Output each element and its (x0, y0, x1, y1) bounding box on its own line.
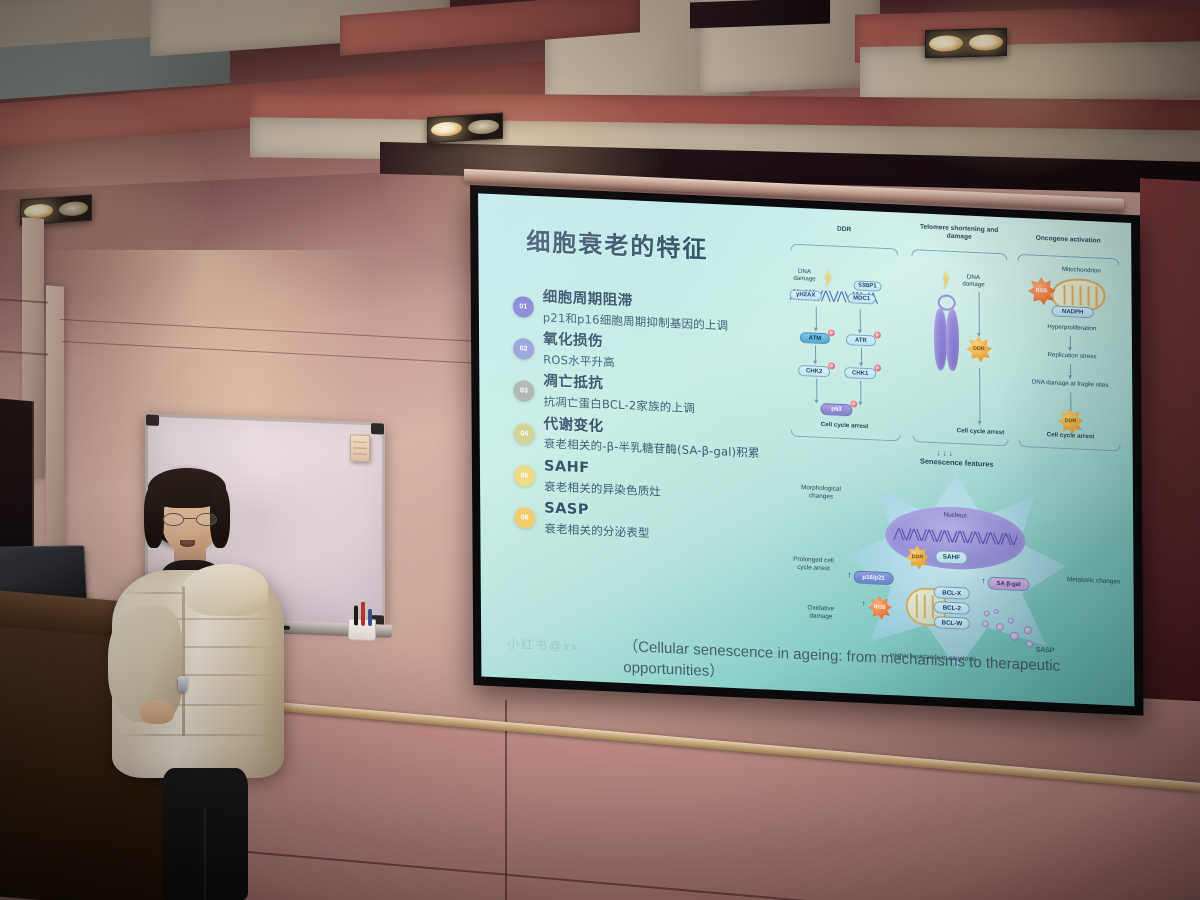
label-morphological-changes: Morphological changes (793, 484, 849, 503)
sasp-dot (982, 620, 989, 627)
arrow-up-ros: ↑ (860, 599, 868, 609)
node-replication-stress: Replication stress (1022, 350, 1122, 362)
marker-bcl-w: BCL-W (934, 616, 970, 630)
presenter-hand (140, 700, 174, 724)
slide-watermark: 小红书@xx (507, 635, 579, 655)
arrow-onco-2 (1070, 364, 1071, 376)
pen-red[interactable] (361, 602, 365, 626)
phospho-dot: P (828, 362, 835, 369)
presenter-hair-side (144, 486, 164, 548)
bullet-number-badge: 02 (513, 338, 534, 360)
bullet-number-badge: 06 (514, 507, 535, 529)
ros-starburst-icon: ROS (1027, 276, 1055, 305)
spotlight-bulb (59, 200, 88, 217)
node-dna-damage-1: DNA damage (787, 267, 821, 283)
glasses-lens-left (163, 513, 184, 526)
arrow-to-p53 (816, 379, 817, 401)
slide-figure: DDR DNA damage ⋀⋁⋀⋁⋀⋁⋀⋁⋀⋁⋀ γH2AX 53BP1 M… (785, 215, 1128, 691)
sasp-dot (1008, 617, 1014, 623)
brace-top-oncogene (1018, 254, 1119, 266)
ceiling-panel-e (860, 41, 1200, 103)
spotlight-bulb (431, 121, 462, 138)
node-chk1: CHK1 (844, 367, 876, 379)
arrow-to-ddr-telomere (979, 292, 980, 334)
label-metabolic-changes: Metabolic changes (1066, 576, 1122, 587)
ros-label: ROS (1036, 288, 1048, 295)
ddr-label: DDR (912, 554, 924, 561)
arrow-to-atr (860, 309, 861, 331)
spotlight-bulb (468, 118, 499, 135)
spotlight-bulb (929, 35, 963, 52)
label-mitochondrion: Mitochondrion (1041, 265, 1121, 276)
arrow-onco-1 (1070, 336, 1071, 348)
node-chk2: CHK2 (798, 365, 830, 377)
marker-bcl-x: BCL-X (934, 586, 970, 600)
node-atm: ATM (800, 332, 830, 344)
whiteboard-corner (371, 423, 384, 434)
node-hyperproliferation: Hyperproliferation (1022, 322, 1122, 334)
outcome-cell-cycle-arrest-3: Cell cycle arrest (1029, 430, 1113, 441)
node-gammah2ax: γH2AX (790, 290, 822, 301)
trouser-seam (204, 808, 206, 900)
figure-column-ddr: DDR DNA damage ⋀⋁⋀⋁⋀⋁⋀⋁⋀⋁⋀ γH2AX 53BP1 M… (785, 243, 904, 444)
presenter-mouth (180, 540, 195, 547)
whiteboard-eraser[interactable] (350, 434, 370, 462)
sasp-dot (1024, 626, 1032, 634)
senescence-features-label: Senescence features (897, 456, 1017, 470)
figure-column-telomere: Telomere shortening and damage DNA damag… (907, 249, 1012, 450)
glasses-bridge (184, 518, 196, 519)
jacket-quilt-line (118, 734, 278, 736)
ros-label: ROS (874, 604, 886, 611)
arrow-to-chk1 (861, 348, 862, 364)
column-header-ddr: DDR (785, 223, 903, 236)
projection-screen: 细胞衰老的特征 小红书@xx 01 细胞周期阻滞 p21和p16细胞周期抑制基因… (470, 185, 1143, 716)
arrow-up-sabgal: ↑ (980, 576, 988, 586)
ddr-label: DDR (973, 346, 985, 353)
ceiling-spotlight-3 (925, 28, 1007, 58)
slide-surface: 细胞衰老的特征 小红书@xx 01 细胞周期阻滞 p21和p16细胞周期抑制基因… (478, 193, 1134, 706)
sasp-secretion-dots (982, 608, 1042, 651)
node-mdc1: MDC1 (848, 293, 876, 304)
arrow-up-p16: ↑ (846, 570, 854, 580)
chromosome-arm (946, 309, 959, 372)
presenter-glasses (163, 513, 217, 526)
arrow-to-p53-b (860, 381, 861, 403)
presenter-trousers (162, 768, 248, 900)
sasp-dot (994, 609, 999, 614)
bullet-number-badge: 01 (513, 296, 534, 318)
pen-holder[interactable] (348, 618, 376, 641)
phospho-dot: P (874, 331, 881, 338)
slide-title: 细胞衰老的特征 (526, 222, 708, 265)
column-header-telomere: Telomere shortening and damage (907, 223, 1011, 243)
outcome-cell-cycle-arrest-1: Cell cycle arrest (805, 420, 885, 431)
screen-frame: 细胞衰老的特征 小红书@xx 01 细胞周期阻滞 p21和p16细胞周期抑制基因… (470, 185, 1143, 716)
label-oxidative-damage: Oxidative damage (796, 604, 846, 622)
node-dna-damage-fragile: DNA damage at fragile sites (1014, 378, 1126, 391)
glasses-lens-right (196, 513, 217, 526)
ddr-starburst-icon: DDR (966, 336, 992, 363)
node-nadph: NADPH (1052, 305, 1094, 318)
node-atr: ATR (846, 334, 876, 346)
arrow-to-atm (816, 307, 817, 329)
node-dna-damage-2: DNA damage (955, 273, 991, 290)
arrow-to-arrest-telomere (979, 368, 980, 422)
phospho-dot: P (850, 400, 857, 407)
chromatin-strands-icon: ⋀⋁⋀⋁⋀⋁⋀⋁⋀⋁⋀⋁⋀⋁⋀⋁ (893, 526, 1017, 548)
marker-p16-p21: p16/p21 (854, 570, 894, 585)
bullet-number-badge: 05 (514, 465, 535, 487)
jacket-zipper (182, 586, 185, 736)
phospho-dot: P (828, 329, 835, 336)
pen-blue[interactable] (368, 609, 372, 626)
bullet-number-badge: 04 (514, 423, 535, 445)
figure-top-pathways: DDR DNA damage ⋀⋁⋀⋁⋀⋁⋀⋁⋀⋁⋀ γH2AX 53BP1 M… (785, 221, 1125, 454)
marker-sa-beta-gal: SA β-gal (988, 577, 1030, 592)
presenter (110, 468, 285, 900)
brace-top-ddr (790, 244, 899, 256)
ceiling-spotlight-2 (427, 113, 503, 144)
node-p53: p53 (820, 403, 852, 416)
arrow-onco-3 (1070, 392, 1071, 410)
node-53bp1: 53BP1 (854, 280, 882, 291)
jacket-zipper-pull (178, 676, 187, 692)
pen-black[interactable] (354, 605, 358, 625)
ddr-starburst-icon: DDR (1057, 408, 1083, 435)
figure-column-oncogene: Oncogene activation Mitochondrion ROS NA… (1013, 254, 1124, 455)
sasp-dot (996, 623, 1004, 631)
ddr-label: DDR (1065, 418, 1077, 425)
bullet-number-badge: 03 (513, 380, 534, 402)
node-sahf: SAHF (935, 550, 967, 564)
sasp-dot (984, 610, 990, 616)
outcome-cell-cycle-arrest-2: Cell cycle arrest (939, 426, 1023, 437)
arrow-to-chk2 (815, 346, 816, 362)
marker-bcl-2: BCL-2 (934, 601, 970, 615)
lecture-hall-scene: 细胞衰老的特征 小红书@xx 01 细胞周期阻滞 p21和p16细胞周期抑制基因… (0, 0, 1200, 900)
label-prolonged-arrest: Prolonged cell cycle arrest (787, 555, 839, 573)
whiteboard-corner (146, 414, 159, 425)
brace-top-telomere (911, 249, 1007, 260)
spotlight-bulb (969, 34, 1003, 51)
column-header-oncogene: Oncogene activation (1013, 234, 1123, 247)
phospho-dot: P (874, 364, 881, 371)
wall-dado-right-upper (1140, 178, 1200, 702)
presenter-jacket-hood (182, 564, 268, 616)
ceiling-recess-dark (690, 0, 830, 28)
sasp-dot (1010, 632, 1019, 641)
